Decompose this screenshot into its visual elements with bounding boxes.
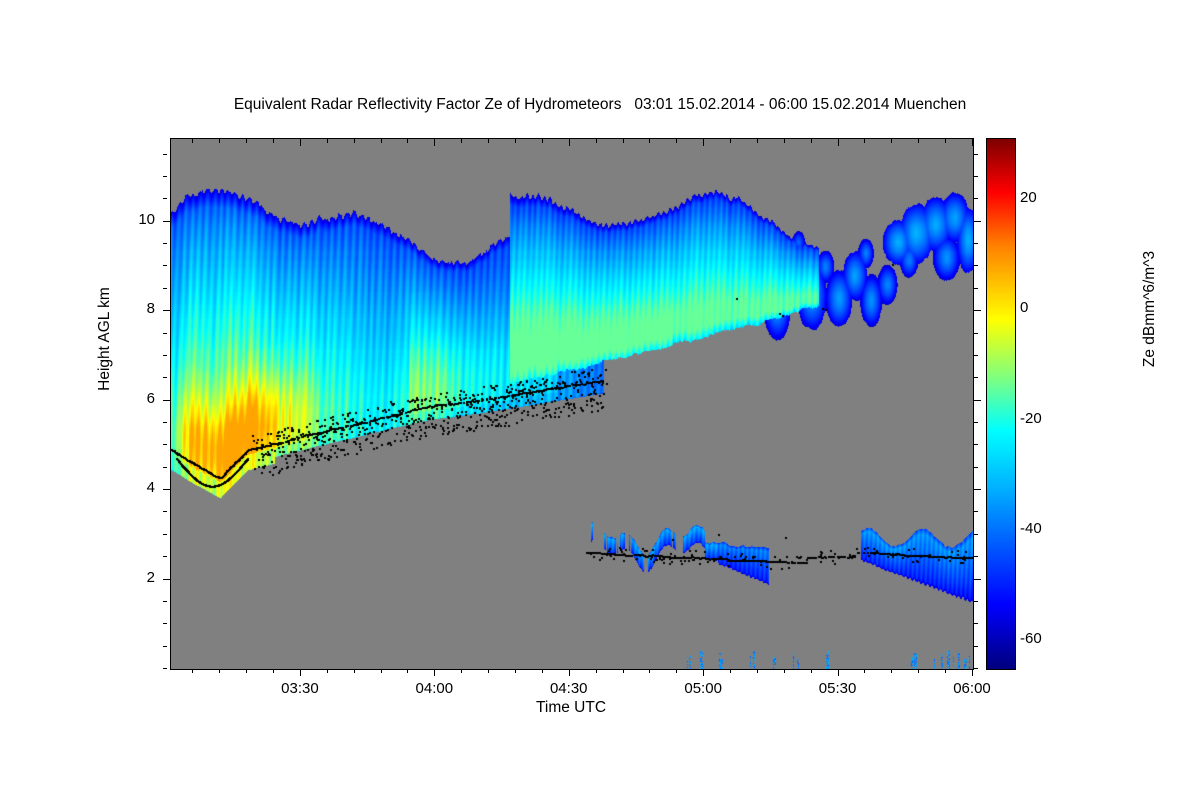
- y-tick-right: [974, 534, 978, 535]
- plot-area: [170, 138, 974, 670]
- colorbar-tick-label: 0: [1020, 299, 1080, 316]
- x-tick-minor: [407, 669, 408, 673]
- x-tick-top: [838, 139, 839, 146]
- x-tick-minor: [757, 669, 758, 673]
- y-tick-minor: [163, 355, 167, 356]
- y-tick-major: [163, 489, 170, 490]
- x-tick-minor: [918, 669, 919, 673]
- x-tick-top: [703, 139, 704, 146]
- x-tick-minor: [219, 669, 220, 673]
- x-tick-major: [703, 669, 704, 676]
- y-tick-right: [974, 422, 978, 423]
- y-tick-minor: [163, 511, 167, 512]
- x-tick-major: [300, 669, 301, 676]
- y-tick-right: [974, 579, 981, 580]
- colorbar-tick-label: 20: [1020, 189, 1080, 206]
- x-tick-minor: [730, 669, 731, 673]
- x-tick-top: [327, 139, 328, 143]
- x-tick-major: [838, 669, 839, 676]
- y-tick-minor: [163, 467, 167, 468]
- colorbar-gradient: [987, 139, 1015, 669]
- x-tick-top: [596, 139, 597, 143]
- y-tick-right: [974, 489, 981, 490]
- x-tick-minor: [273, 669, 274, 673]
- y-tick-minor: [163, 646, 167, 647]
- y-tick-right: [974, 646, 978, 647]
- y-tick-right: [974, 221, 981, 222]
- y-tick-right: [974, 310, 981, 311]
- x-tick-top: [945, 139, 946, 143]
- radar-reflectivity-figure: Equivalent Radar Reflectivity Factor Ze …: [0, 0, 1200, 800]
- x-tick-top: [891, 139, 892, 143]
- x-tick-minor: [488, 669, 489, 673]
- x-tick-label: 05:30: [793, 680, 883, 697]
- y-tick-label: 8: [115, 300, 155, 317]
- x-tick-top: [730, 139, 731, 143]
- x-tick-top: [623, 139, 624, 143]
- x-tick-minor: [542, 669, 543, 673]
- x-tick-minor: [354, 669, 355, 673]
- y-tick-right: [974, 444, 978, 445]
- colorbar-tick-label: -40: [1020, 520, 1080, 537]
- x-tick-minor: [784, 669, 785, 673]
- x-tick-minor: [246, 669, 247, 673]
- y-tick-minor: [163, 377, 167, 378]
- y-tick-right: [974, 154, 978, 155]
- x-tick-label: 06:00: [927, 680, 1017, 697]
- y-tick-minor: [163, 601, 167, 602]
- x-tick-top: [515, 139, 516, 143]
- x-tick-label: 05:00: [658, 680, 748, 697]
- x-tick-top: [569, 139, 570, 146]
- y-tick-right: [974, 556, 978, 557]
- y-tick-right: [974, 176, 978, 177]
- x-axis-title: Time UTC: [170, 699, 972, 717]
- y-tick-minor: [163, 154, 167, 155]
- x-tick-top: [273, 139, 274, 143]
- x-tick-minor: [864, 669, 865, 673]
- x-tick-minor: [945, 669, 946, 673]
- colorbar: [986, 138, 1016, 670]
- x-tick-top: [246, 139, 247, 143]
- x-tick-top: [542, 139, 543, 143]
- x-tick-major: [434, 669, 435, 676]
- y-tick-right: [974, 601, 978, 602]
- y-tick-minor: [163, 668, 167, 669]
- x-tick-top: [192, 139, 193, 143]
- x-tick-minor: [461, 669, 462, 673]
- x-tick-minor: [327, 669, 328, 673]
- x-tick-minor: [891, 669, 892, 673]
- y-tick-right: [974, 467, 978, 468]
- x-tick-minor: [649, 669, 650, 673]
- figure-title: Equivalent Radar Reflectivity Factor Ze …: [0, 96, 1200, 114]
- y-tick-major: [163, 221, 170, 222]
- colorbar-title: Ze dBmm^6/m^3: [1141, 159, 1159, 459]
- x-tick-top: [300, 139, 301, 146]
- y-tick-minor: [163, 444, 167, 445]
- x-tick-top: [918, 139, 919, 143]
- y-tick-major: [163, 400, 170, 401]
- y-tick-right: [974, 377, 978, 378]
- y-tick-minor: [163, 243, 167, 244]
- x-tick-top: [757, 139, 758, 143]
- x-tick-minor: [811, 669, 812, 673]
- x-tick-top: [811, 139, 812, 143]
- colorbar-tick-label: -20: [1020, 410, 1080, 427]
- y-tick-minor: [163, 265, 167, 266]
- y-tick-right: [974, 333, 978, 334]
- reflectivity-heatmap: [171, 139, 973, 669]
- x-tick-minor: [515, 669, 516, 673]
- x-tick-top: [434, 139, 435, 146]
- y-tick-right: [974, 623, 978, 624]
- x-tick-top: [784, 139, 785, 143]
- y-tick-right: [974, 355, 978, 356]
- x-tick-top: [488, 139, 489, 143]
- x-tick-top: [649, 139, 650, 143]
- y-tick-major: [163, 579, 170, 580]
- y-tick-label: 2: [115, 569, 155, 586]
- x-tick-top: [461, 139, 462, 143]
- x-tick-minor: [623, 669, 624, 673]
- x-tick-top: [676, 139, 677, 143]
- y-tick-minor: [163, 176, 167, 177]
- y-tick-minor: [163, 556, 167, 557]
- y-tick-label: 10: [115, 211, 155, 228]
- y-tick-label: 4: [115, 479, 155, 496]
- y-tick-right: [974, 511, 978, 512]
- x-tick-minor: [381, 669, 382, 673]
- y-tick-minor: [163, 422, 167, 423]
- y-tick-right: [974, 400, 981, 401]
- y-axis-title: Height AGL km: [96, 229, 114, 449]
- x-tick-major: [569, 669, 570, 676]
- y-tick-minor: [163, 198, 167, 199]
- x-tick-major: [972, 669, 973, 676]
- x-tick-label: 03:30: [255, 680, 345, 697]
- y-tick-minor: [163, 333, 167, 334]
- x-tick-label: 04:30: [524, 680, 614, 697]
- y-tick-label: 6: [115, 390, 155, 407]
- y-tick-minor: [163, 623, 167, 624]
- x-tick-top: [381, 139, 382, 143]
- x-tick-top: [972, 139, 973, 146]
- x-tick-top: [407, 139, 408, 143]
- x-tick-top: [354, 139, 355, 143]
- y-tick-right: [974, 198, 978, 199]
- y-tick-right: [974, 668, 978, 669]
- y-tick-right: [974, 288, 978, 289]
- x-tick-top: [219, 139, 220, 143]
- x-tick-minor: [192, 669, 193, 673]
- colorbar-tick-label: -60: [1020, 630, 1080, 647]
- y-tick-major: [163, 310, 170, 311]
- x-tick-top: [864, 139, 865, 143]
- y-tick-right: [974, 265, 978, 266]
- y-tick-right: [974, 243, 978, 244]
- x-tick-minor: [596, 669, 597, 673]
- x-tick-minor: [676, 669, 677, 673]
- y-tick-minor: [163, 288, 167, 289]
- x-tick-label: 04:00: [389, 680, 479, 697]
- y-tick-minor: [163, 534, 167, 535]
